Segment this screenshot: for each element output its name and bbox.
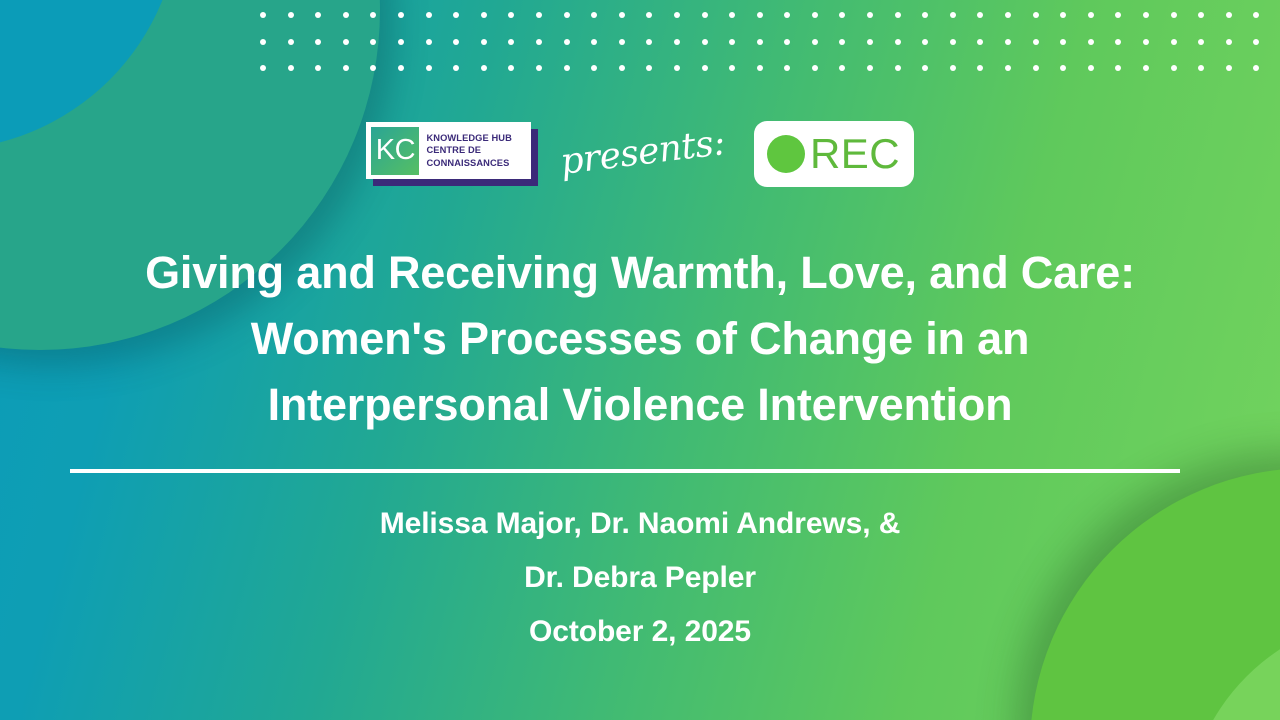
decorative-dot	[646, 65, 652, 71]
decorative-dot	[950, 12, 956, 18]
decorative-dot	[564, 39, 570, 45]
decorative-dot	[812, 65, 818, 71]
decorative-dot	[1253, 12, 1259, 18]
decorative-dot	[646, 39, 652, 45]
decorative-dot	[646, 12, 652, 18]
decorative-dot	[536, 39, 542, 45]
decorative-dot	[288, 65, 294, 71]
decorative-dot	[619, 12, 625, 18]
decorative-dot	[288, 39, 294, 45]
decorative-dot	[1088, 12, 1094, 18]
decorative-dot	[315, 12, 321, 18]
decorative-dot	[977, 12, 983, 18]
page-title: Giving and Receiving Warmth, Love, and C…	[70, 240, 1210, 438]
decorative-dot	[481, 39, 487, 45]
title-line: Giving and Receiving Warmth, Love, and C…	[70, 240, 1210, 306]
decorative-dot	[922, 12, 928, 18]
decorative-dot	[453, 65, 459, 71]
presenter-block: Melissa Major, Dr. Naomi Andrews, & Dr. …	[70, 497, 1210, 659]
decorative-dot	[1115, 12, 1121, 18]
decorative-dot	[619, 39, 625, 45]
decorative-dot	[260, 65, 266, 71]
knowledge-hub-logo-card: KC KNOWLEDGE HUB CENTRE DE CONNAISSANCES	[366, 122, 531, 179]
decorative-dot	[398, 65, 404, 71]
decorative-dot	[757, 39, 763, 45]
divider	[70, 469, 1180, 473]
decorative-dot	[1143, 39, 1149, 45]
decorative-dot	[895, 65, 901, 71]
decorative-dot	[950, 65, 956, 71]
decorative-dot	[481, 12, 487, 18]
decorative-dot	[1226, 65, 1232, 71]
knowledge-hub-wordmark: KNOWLEDGE HUB CENTRE DE CONNAISSANCES	[426, 132, 512, 169]
decorative-dot	[757, 12, 763, 18]
record-dot-icon	[767, 135, 805, 173]
decorative-dot	[1143, 65, 1149, 71]
presenter-line: Melissa Major, Dr. Naomi Andrews, &	[70, 497, 1210, 551]
decorative-dot	[729, 65, 735, 71]
decorative-dot	[729, 12, 735, 18]
decorative-dot	[1033, 39, 1039, 45]
decorative-dot	[1143, 12, 1149, 18]
rec-logo: REC	[754, 121, 914, 187]
decorative-dot	[702, 65, 708, 71]
decorative-dot	[702, 12, 708, 18]
kc-monogram-icon: KC	[371, 127, 419, 175]
decorative-dot	[315, 65, 321, 71]
decorative-dot	[1115, 65, 1121, 71]
decorative-dot	[757, 65, 763, 71]
decorative-dot	[895, 12, 901, 18]
decorative-dot	[674, 12, 680, 18]
decorative-dot	[784, 65, 790, 71]
decorative-dot	[977, 65, 983, 71]
decorative-dot	[1171, 12, 1177, 18]
decorative-dot	[729, 39, 735, 45]
rec-wordmark: REC	[810, 133, 900, 175]
decorative-dot	[508, 65, 514, 71]
decorative-dot	[564, 65, 570, 71]
decorative-dot	[839, 12, 845, 18]
presenter-line: Dr. Debra Pepler	[70, 551, 1210, 605]
decorative-dot	[619, 65, 625, 71]
decorative-dot	[426, 39, 432, 45]
title-slide: KC KNOWLEDGE HUB CENTRE DE CONNAISSANCES…	[0, 0, 1280, 720]
decorative-dot	[1171, 39, 1177, 45]
decorative-dot	[343, 39, 349, 45]
decorative-dot	[1198, 39, 1204, 45]
decorative-dot	[453, 12, 459, 18]
decorative-dot	[453, 39, 459, 45]
decorative-dot	[564, 12, 570, 18]
decorative-dot	[1253, 65, 1259, 71]
decorative-dot-grid	[260, 12, 1266, 78]
decorative-dot	[867, 39, 873, 45]
decorative-dot	[867, 12, 873, 18]
decorative-dot	[1088, 39, 1094, 45]
presentation-date: October 2, 2025	[70, 605, 1210, 659]
decorative-dot	[784, 12, 790, 18]
decorative-dot	[536, 12, 542, 18]
decorative-dot	[839, 39, 845, 45]
decorative-dot	[1226, 12, 1232, 18]
logo-strip: KC KNOWLEDGE HUB CENTRE DE CONNAISSANCES…	[0, 114, 1280, 194]
decorative-dot	[398, 39, 404, 45]
decorative-dot	[426, 65, 432, 71]
decorative-dot	[1005, 39, 1011, 45]
decorative-dot	[839, 65, 845, 71]
decorative-dot	[370, 12, 376, 18]
decorative-dot	[591, 12, 597, 18]
decorative-dot	[1226, 39, 1232, 45]
decorative-dot	[1088, 65, 1094, 71]
decorative-dot	[950, 39, 956, 45]
decorative-dot	[1253, 39, 1259, 45]
decorative-dot	[1198, 12, 1204, 18]
decorative-dot	[1115, 39, 1121, 45]
knowledge-hub-logo: KC KNOWLEDGE HUB CENTRE DE CONNAISSANCES	[366, 122, 538, 186]
decorative-dot	[1060, 65, 1066, 71]
decorative-dot	[343, 65, 349, 71]
decorative-dot	[867, 65, 873, 71]
decorative-dot	[536, 65, 542, 71]
decorative-dot	[1033, 12, 1039, 18]
title-line: Interpersonal Violence Intervention	[70, 372, 1210, 438]
dot-row	[260, 12, 1266, 18]
decorative-dot	[1060, 12, 1066, 18]
decorative-dot	[1033, 65, 1039, 71]
decorative-dot	[977, 39, 983, 45]
decorative-dot	[426, 12, 432, 18]
decorative-dot	[315, 39, 321, 45]
decorative-dot	[591, 65, 597, 71]
decorative-dot	[895, 39, 901, 45]
decorative-dot	[288, 12, 294, 18]
decorative-dot	[922, 39, 928, 45]
dot-row	[260, 65, 1266, 71]
decorative-dot	[922, 65, 928, 71]
title-line: Women's Processes of Change in an	[70, 306, 1210, 372]
decorative-dot	[260, 12, 266, 18]
decorative-dot	[508, 12, 514, 18]
decorative-dot	[481, 65, 487, 71]
decorative-dot	[812, 39, 818, 45]
decorative-dot	[1060, 39, 1066, 45]
decorative-dot	[674, 39, 680, 45]
decorative-dot	[343, 12, 349, 18]
decorative-dot	[1198, 65, 1204, 71]
decorative-dot	[702, 39, 708, 45]
decorative-dot	[260, 39, 266, 45]
decorative-dot	[1171, 65, 1177, 71]
decorative-dot	[370, 65, 376, 71]
decorative-dot	[398, 12, 404, 18]
decorative-dot	[1005, 65, 1011, 71]
decorative-dot	[812, 12, 818, 18]
decorative-dot	[591, 39, 597, 45]
presents-label: presents:	[559, 122, 728, 183]
decorative-dot	[784, 39, 790, 45]
decorative-dot	[508, 39, 514, 45]
decorative-dot	[1005, 12, 1011, 18]
dot-row	[260, 39, 1266, 45]
decorative-dot	[674, 65, 680, 71]
decorative-dot	[370, 39, 376, 45]
